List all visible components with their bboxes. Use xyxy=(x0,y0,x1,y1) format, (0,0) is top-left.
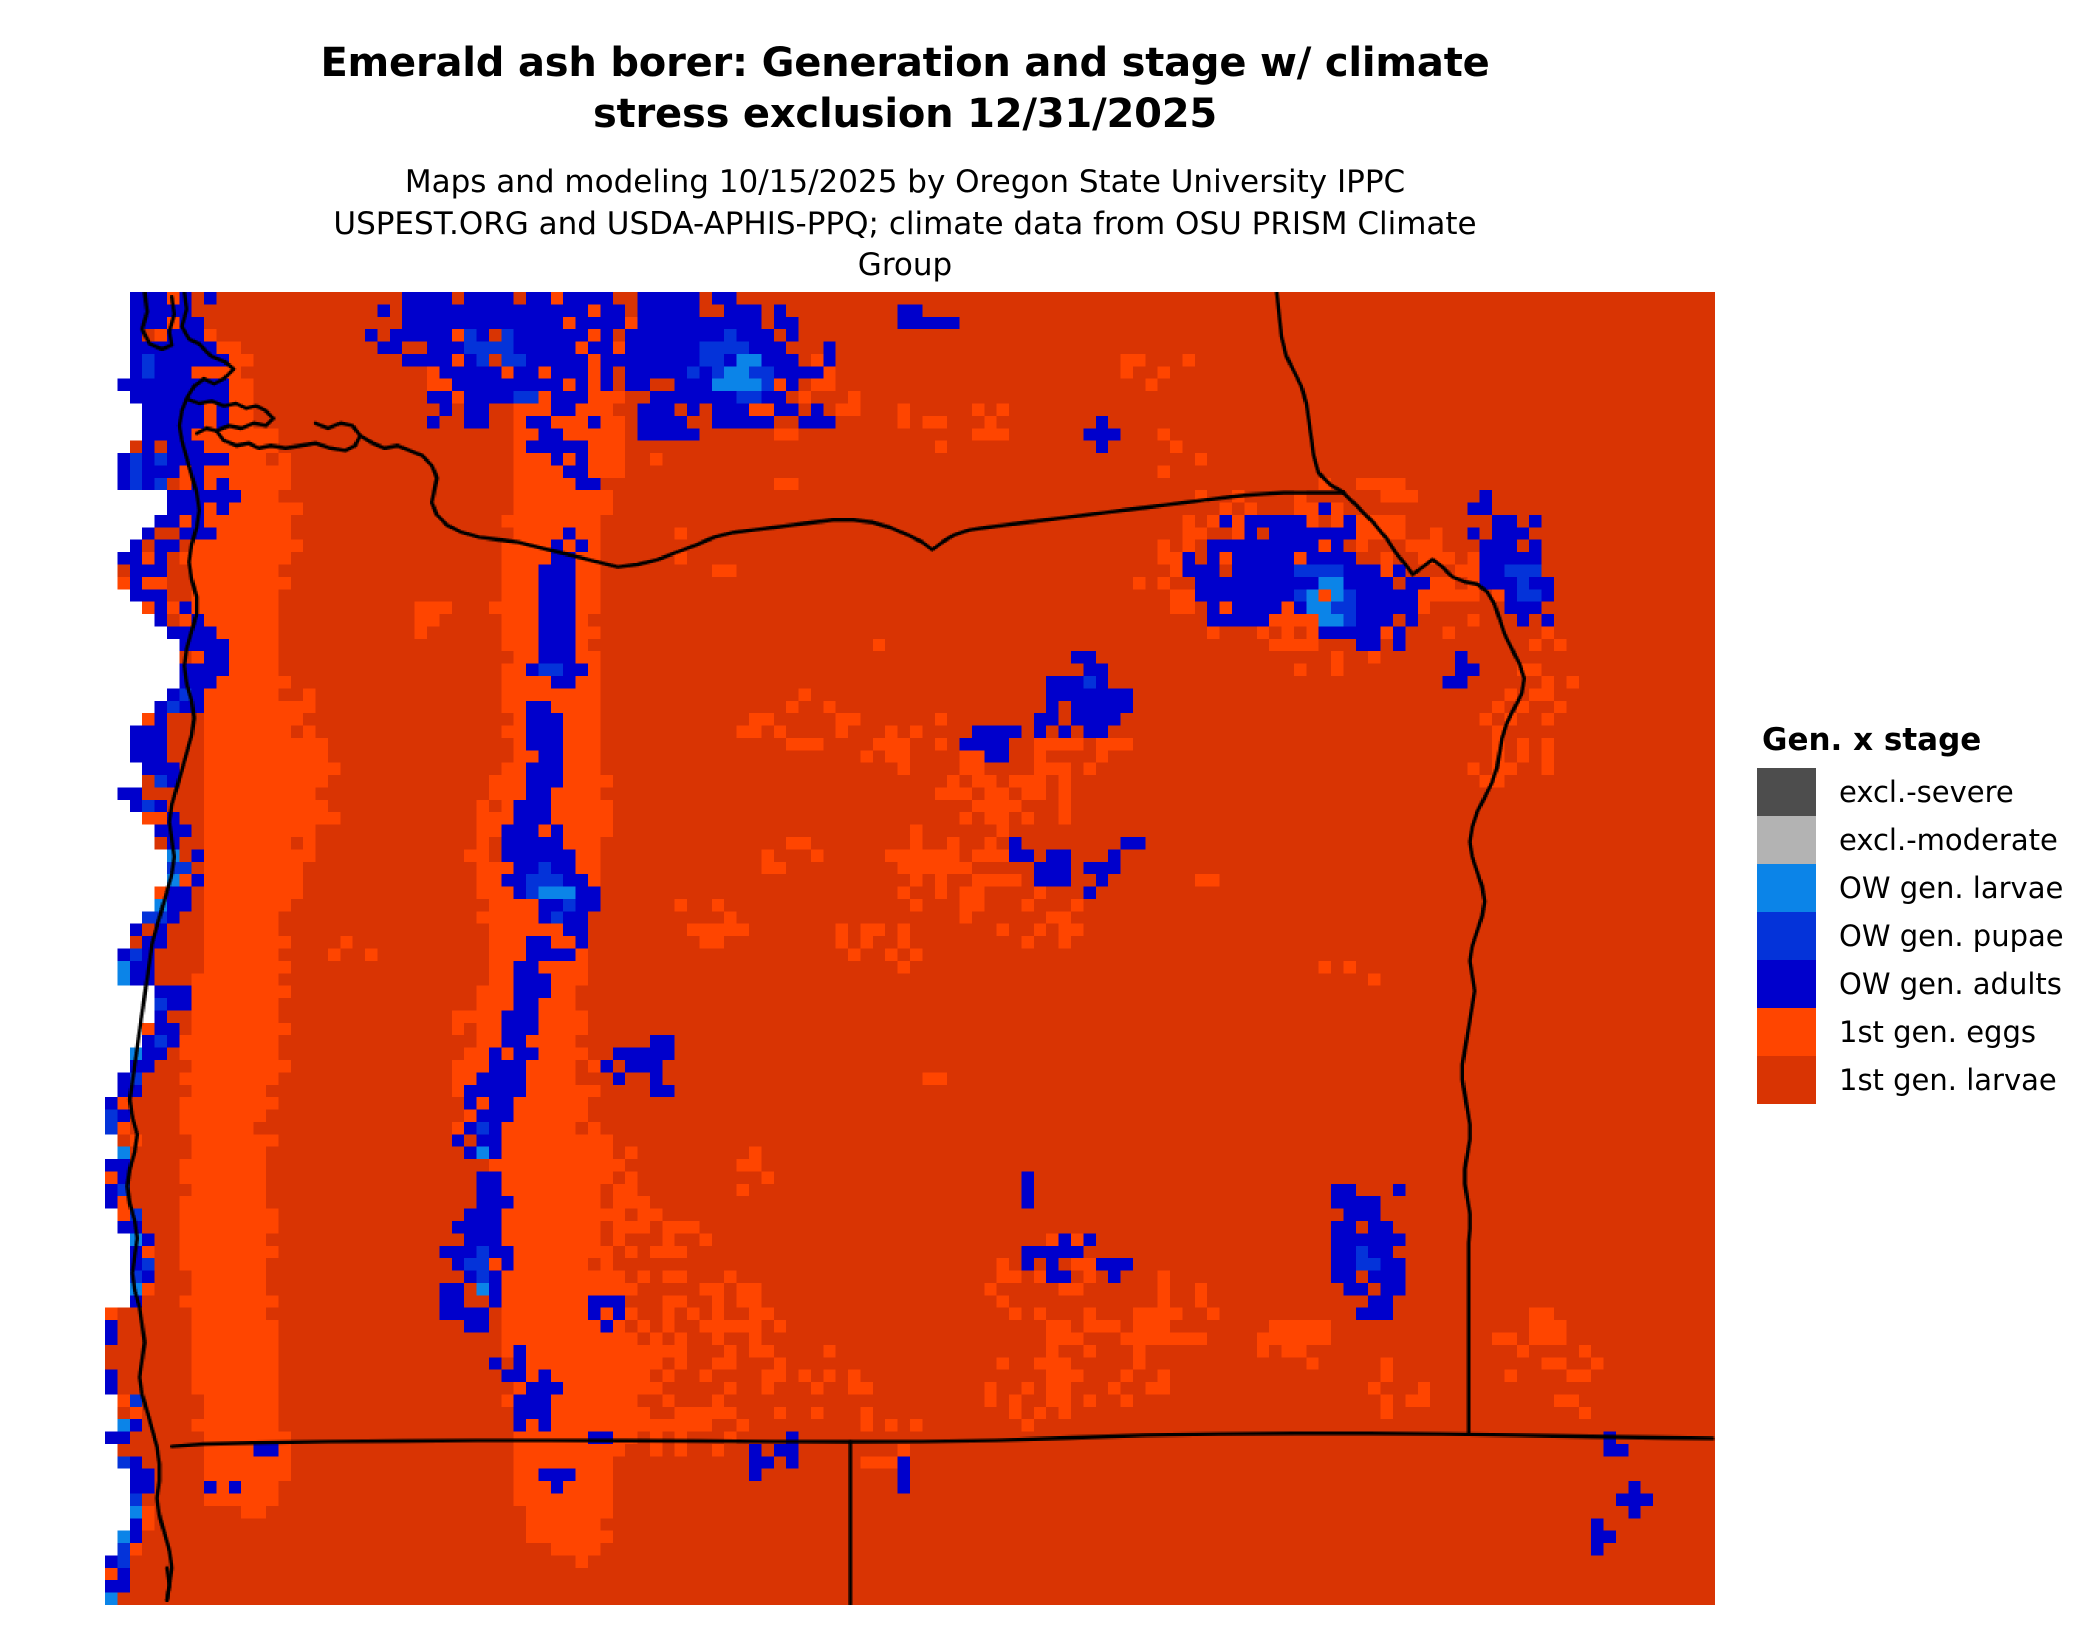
legend-color-swatch xyxy=(1757,768,1816,816)
legend-item-label: OW gen. adults xyxy=(1839,970,2062,999)
legend-color-swatch xyxy=(1757,912,1816,960)
page-title: Emerald ash borer: Generation and stage … xyxy=(270,38,1540,140)
legend-item-label: OW gen. pupae xyxy=(1839,922,2064,951)
legend-item: 1st gen. larvae xyxy=(1757,1056,2077,1104)
generation-stage-raster-map xyxy=(105,292,1715,1605)
legend-item: OW gen. larvae xyxy=(1757,864,2077,912)
legend-item: excl.-severe xyxy=(1757,768,2077,816)
figure-subtitle: Maps and modeling 10/15/2025 by Oregon S… xyxy=(315,162,1495,286)
legend-color-swatch xyxy=(1757,960,1816,1008)
legend-item-label: excl.-moderate xyxy=(1839,826,2058,855)
legend-color-swatch xyxy=(1757,1056,1816,1104)
legend-item-label: excl.-severe xyxy=(1839,778,2014,807)
legend: Gen. x stage excl.-severeexcl.-moderateO… xyxy=(1757,722,2077,1104)
legend-title: Gen. x stage xyxy=(1762,722,2077,758)
legend-item: excl.-moderate xyxy=(1757,816,2077,864)
legend-color-swatch xyxy=(1757,864,1816,912)
legend-item: OW gen. adults xyxy=(1757,960,2077,1008)
legend-item-label: 1st gen. eggs xyxy=(1839,1018,2036,1047)
legend-item-list: excl.-severeexcl.-moderateOW gen. larvae… xyxy=(1757,768,2077,1104)
map-plot-area xyxy=(105,292,1715,1605)
legend-color-swatch xyxy=(1757,1008,1816,1056)
legend-item-label: 1st gen. larvae xyxy=(1839,1066,2057,1095)
figure-header: Emerald ash borer: Generation and stage … xyxy=(0,0,1810,286)
legend-item: OW gen. pupae xyxy=(1757,912,2077,960)
legend-item: 1st gen. eggs xyxy=(1757,1008,2077,1056)
legend-color-swatch xyxy=(1757,816,1816,864)
legend-item-label: OW gen. larvae xyxy=(1839,874,2063,903)
